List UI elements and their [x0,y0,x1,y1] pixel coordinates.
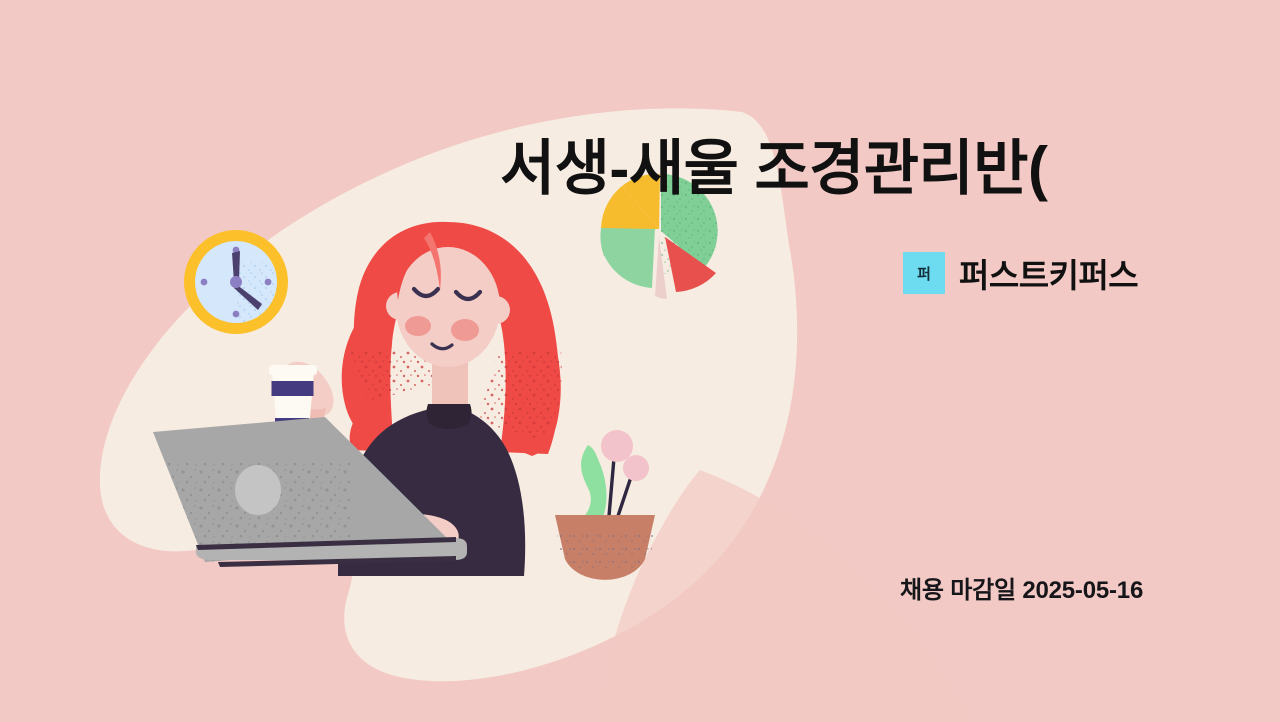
right-cheek [451,319,479,341]
illustration-artwork [0,0,1280,722]
wall-clock [184,230,288,334]
deadline-text: 채용 마감일 2025-05-16 [900,570,1143,605]
company-name: 퍼스트키퍼스 [959,249,1138,297]
recruitment-banner: 서생-새울 조경관리반( 퍼 퍼스트키퍼스 채용 마감일 2025-05-16 [0,0,1280,722]
company-row[interactable]: 퍼 퍼스트키퍼스 [903,249,1138,297]
page-title: 서생-새울 조경관리반( [500,134,1280,205]
clock-center-pin [230,276,242,288]
plant-flower-small [623,455,649,481]
plant-flower-large [601,430,633,462]
left-cheek [405,316,431,336]
sweater-collar [426,404,471,429]
company-logo-icon: 퍼 [903,252,945,294]
